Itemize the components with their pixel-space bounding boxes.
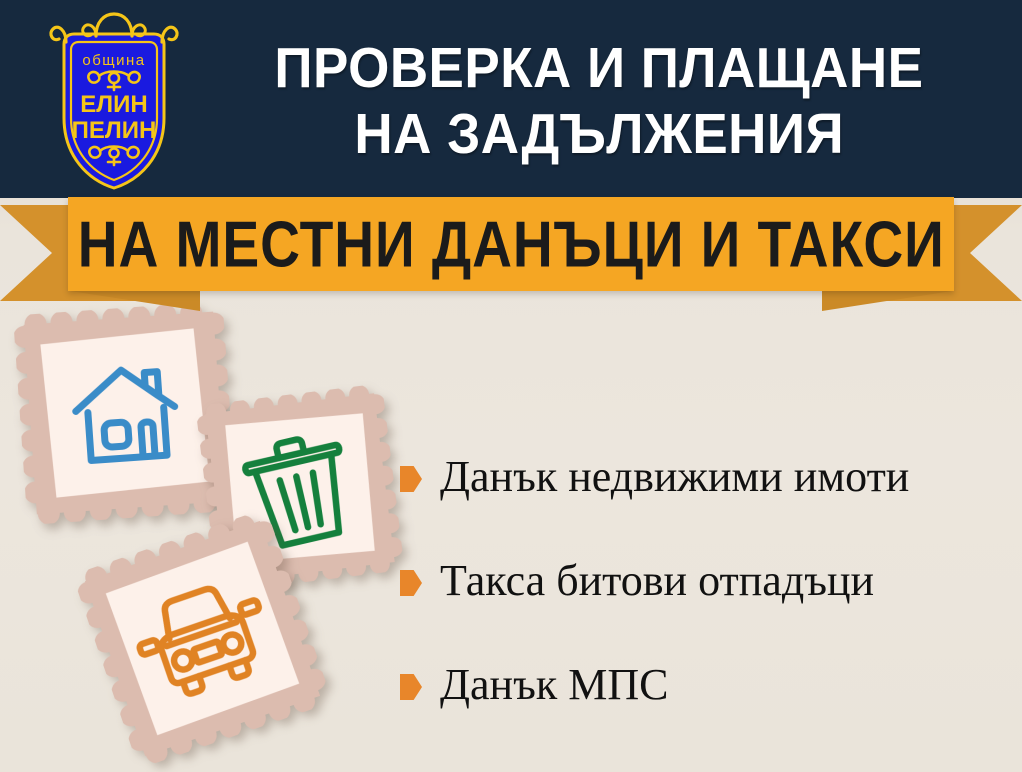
title-line-1: ПРОВЕРКА И ПЛАЩАНЕ — [274, 35, 923, 101]
crest-name-line2: ПЕЛИН — [72, 117, 157, 144]
ribbon-banner: НА МЕСТНИ ДАНЪЦИ И ТАКСИ — [0, 197, 1022, 312]
title-line-2: НА ЗАДЪЛЖЕНИЯ — [354, 101, 844, 167]
tax-type-list: Данък недвижими имоти Такса битови отпад… — [400, 425, 1010, 737]
ribbon-label: НА МЕСТНИ ДАНЪЦИ И ТАКСИ — [77, 207, 944, 282]
list-item-label: Данък недвижими имоти — [440, 454, 909, 500]
list-item[interactable]: Данък МПС — [400, 633, 1010, 737]
list-item[interactable]: Данък недвижими имоти — [400, 425, 1010, 529]
crest-name-line1: ЕЛИН — [80, 91, 147, 118]
poster-title: ПРОВЕРКА И ПЛАЩАНЕ НА ЗАДЪЛЖЕНИЯ — [190, 16, 1008, 186]
ribbon-band: НА МЕСТНИ ДАНЪЦИ И ТАКСИ — [68, 197, 954, 291]
list-item-label: Данък МПС — [440, 662, 668, 708]
list-item-label: Такса битови отпадъци — [440, 558, 874, 604]
arrow-bullet-icon — [400, 674, 422, 700]
poster-canvas: община ЕЛИН ПЕЛИН ПРОВЕРКА И ПЛАЩАНЕ НА … — [0, 0, 1022, 772]
list-item[interactable]: Такса битови отпадъци — [400, 529, 1010, 633]
arrow-bullet-icon — [400, 570, 422, 596]
crest-subtitle: община — [82, 52, 145, 69]
municipality-crest-logo: община ЕЛИН ПЕЛИН — [44, 8, 184, 193]
arrow-bullet-icon — [400, 466, 422, 492]
